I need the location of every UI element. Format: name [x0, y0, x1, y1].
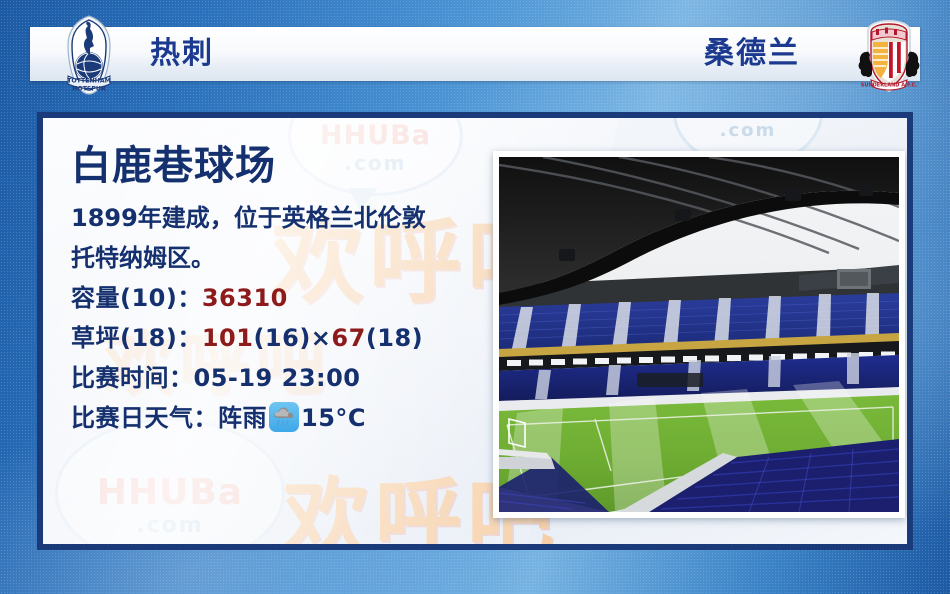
stadium-capacity-row: 容量(10)：36310 [71, 278, 491, 318]
away-team-name: 桑德兰 [704, 35, 800, 73]
stadium-info-panel: HHUBa .com .com HHUBa .com 欢呼吧 欢呼吧 欢呼吧 白… [37, 112, 913, 550]
watermark-brand-latin-bottom: HHUBa [97, 472, 243, 513]
sunderland-afc-crest: SUNDERLAND A.F.C. [852, 18, 926, 94]
svg-text:TOTTENHAM: TOTTENHAM [67, 78, 111, 85]
watermark-domain-topright: .com [720, 120, 777, 141]
stadium-description-line-2: 托特纳姆区。 [71, 238, 491, 278]
match-info-graphic: 热刺 桑德兰 TOTTENHAM HOTSPUR [0, 0, 950, 594]
weather-condition: 阵雨 [218, 404, 267, 432]
teams-header-bar: 热刺 桑德兰 [30, 27, 920, 81]
weather-temperature: 15°C [301, 404, 366, 432]
home-team-name: 热刺 [150, 35, 214, 73]
capacity-label: 容量(10)： [71, 284, 202, 312]
pitch-multiply-sign: × [311, 324, 332, 352]
match-time-row: 比赛时间：05-19 23:00 [71, 358, 491, 398]
stadium-description-line-1: 1899年建成，位于英格兰北伦敦 [71, 198, 491, 238]
svg-text:SUNDERLAND A.F.C.: SUNDERLAND A.F.C. [861, 83, 918, 89]
watermark-domain-bottom: .com [136, 513, 203, 538]
match-weather-row: 比赛日天气：阵雨 [71, 398, 491, 438]
weather-label: 比赛日天气： [71, 404, 218, 432]
stadium-title: 白鹿巷球场 [71, 138, 491, 194]
match-time-value: 05-19 23:00 [194, 364, 361, 392]
capacity-value: 36310 [202, 284, 288, 312]
tottenham-hotspur-crest: TOTTENHAM HOTSPUR [60, 14, 118, 96]
pitch-length-rank: (16) [253, 324, 310, 352]
match-time-label: 比赛时间： [71, 364, 194, 392]
stadium-pitch-row: 草坪(18)：101(16)×67(18) [71, 318, 491, 358]
stadium-photo-frame [493, 151, 905, 518]
pitch-length-value: 101 [202, 324, 254, 352]
stadium-details: 白鹿巷球场 1899年建成，位于英格兰北伦敦 托特纳姆区。 容量(10)：363… [71, 138, 491, 438]
shower-rain-icon [269, 402, 299, 432]
pitch-width-value: 67 [331, 324, 365, 352]
pitch-width-rank: (18) [366, 324, 423, 352]
stadium-photo [499, 157, 899, 512]
svg-text:HOTSPUR: HOTSPUR [72, 86, 106, 93]
pitch-label: 草坪(18)： [71, 324, 202, 352]
